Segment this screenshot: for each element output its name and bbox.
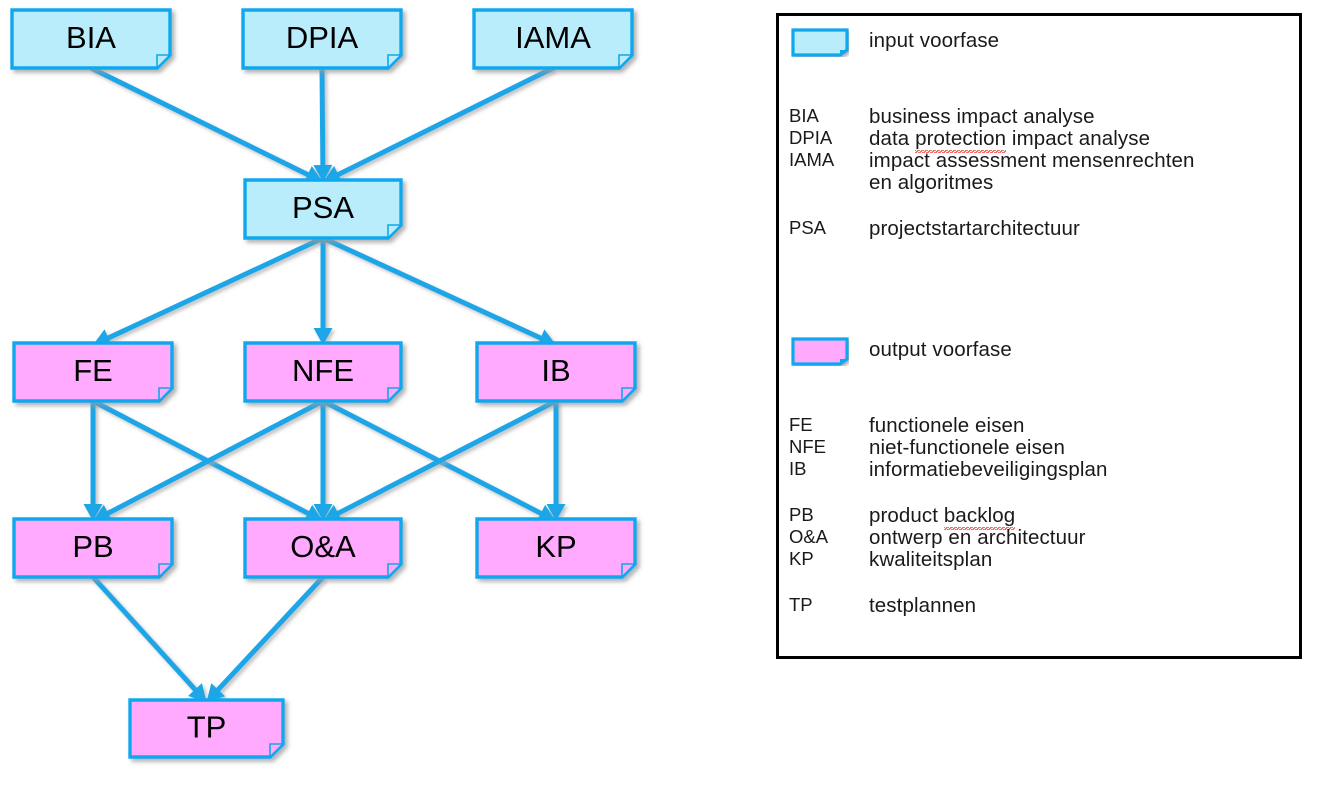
legend-abbr: O&A bbox=[789, 526, 828, 548]
node-IAMA[interactable]: IAMA bbox=[474, 10, 632, 68]
legend-abbr: NFE bbox=[789, 436, 826, 458]
legend-abbr: KP bbox=[789, 548, 814, 570]
legend-row-bia: BIA business impact analyse bbox=[789, 105, 1299, 127]
legend-row-nfe: NFE niet-functionele eisen bbox=[789, 436, 1299, 458]
legend-desc: en algoritmes bbox=[869, 171, 993, 195]
legend-abbr: IAMA bbox=[789, 149, 834, 171]
legend-row-tp: TP testplannen bbox=[789, 594, 1299, 616]
legend-desc: business impact analyse bbox=[869, 105, 1095, 129]
legend-row-kp: KP kwaliteitsplan bbox=[789, 548, 1299, 570]
legend-desc-pre: product bbox=[869, 504, 944, 527]
node-KP[interactable]: KP bbox=[477, 519, 635, 577]
node-FE[interactable]: FE bbox=[14, 343, 172, 401]
legend-desc-pre: data bbox=[869, 127, 915, 150]
flow-diagram: BIADPIAIAMAPSAFENFEIBPBO&AKPTP bbox=[0, 0, 760, 785]
legend-swatch-output bbox=[791, 337, 849, 366]
node-label: O&A bbox=[290, 529, 356, 564]
node-label: TP bbox=[187, 710, 227, 745]
legend-desc: kwaliteitsplan bbox=[869, 548, 992, 572]
legend-abbr: FE bbox=[789, 414, 813, 436]
legend-row-iama: IAMA impact assessment mensenrechten bbox=[789, 149, 1299, 171]
edge-BIA-to-PSA bbox=[91, 68, 323, 183]
legend-abbr: TP bbox=[789, 594, 813, 616]
legend-row-psa: PSA projectstartarchitectuur bbox=[789, 217, 1299, 239]
legend-desc-misspelled: backlog bbox=[944, 504, 1015, 528]
legend-abbr: PSA bbox=[789, 217, 826, 239]
legend-abbr: PB bbox=[789, 504, 814, 526]
node-label: IB bbox=[541, 353, 570, 388]
legend-row-pb: PB product backlog bbox=[789, 504, 1299, 526]
node-label: FE bbox=[73, 353, 113, 388]
node-PB[interactable]: PB bbox=[14, 519, 172, 577]
legend-heading-output: output voorfase bbox=[869, 338, 1012, 362]
node-label: IAMA bbox=[515, 20, 591, 55]
legend-row-oa: O&A ontwerp en architectuur bbox=[789, 526, 1299, 548]
node-label: DPIA bbox=[286, 20, 359, 55]
legend-heading-input: input voorfase bbox=[869, 29, 999, 53]
legend-abbr: IB bbox=[789, 458, 806, 480]
edge-DPIA-to-PSA bbox=[313, 68, 332, 182]
edge-NFE-to-OandA bbox=[314, 401, 333, 521]
legend-desc: projectstartarchitectuur bbox=[869, 217, 1080, 241]
legend-desc: data protection impact analyse bbox=[869, 127, 1150, 151]
legend-abbr: BIA bbox=[789, 105, 819, 127]
edge-FE-to-PB bbox=[84, 401, 103, 521]
legend-row-fe: FE functionele eisen bbox=[789, 414, 1299, 436]
node-label: BIA bbox=[66, 20, 116, 55]
node-label: KP bbox=[535, 529, 576, 564]
node-OandA[interactable]: O&A bbox=[245, 519, 401, 577]
legend-desc: niet-functionele eisen bbox=[869, 436, 1065, 460]
diagram-canvas: BIADPIAIAMAPSAFENFEIBPBO&AKPTP input voo… bbox=[0, 0, 1318, 785]
node-DPIA[interactable]: DPIA bbox=[243, 10, 401, 68]
legend-desc: ontwerp en architectuur bbox=[869, 526, 1086, 550]
legend-desc: functionele eisen bbox=[869, 414, 1025, 438]
edge-IAMA-to-PSA bbox=[323, 68, 553, 183]
node-label: PB bbox=[72, 529, 113, 564]
legend-row-iama-cont: en algoritmes bbox=[789, 171, 1299, 193]
node-label: NFE bbox=[292, 353, 354, 388]
legend-swatch-input bbox=[791, 28, 849, 57]
edge-IB-to-KP bbox=[547, 401, 566, 521]
node-PSA[interactable]: PSA bbox=[245, 180, 401, 238]
edge-PSA-to-NFE bbox=[314, 238, 333, 345]
node-TP[interactable]: TP bbox=[130, 700, 283, 757]
legend-desc: impact assessment mensenrechten bbox=[869, 149, 1195, 173]
node-IB[interactable]: IB bbox=[477, 343, 635, 401]
legend-desc: product backlog bbox=[869, 504, 1015, 528]
legend-desc-post: impact analyse bbox=[1006, 127, 1150, 150]
legend-abbr: DPIA bbox=[789, 127, 832, 149]
legend-panel: input voorfase BIA business impact analy… bbox=[776, 13, 1302, 659]
node-NFE[interactable]: NFE bbox=[245, 343, 401, 401]
edge-OandA-to-TP bbox=[207, 577, 324, 702]
legend-desc-misspelled: protection bbox=[915, 127, 1006, 151]
legend-desc: testplannen bbox=[869, 594, 976, 618]
node-BIA[interactable]: BIA bbox=[12, 10, 170, 68]
edge-PSA-to-FE bbox=[93, 238, 323, 347]
node-label: PSA bbox=[292, 190, 354, 225]
legend-row-ib: IB informatiebeveiligingsplan bbox=[789, 458, 1299, 480]
legend-row-dpia: DPIA data protection impact analyse bbox=[789, 127, 1299, 149]
edge-PB-to-TP bbox=[93, 577, 207, 702]
legend-desc: informatiebeveiligingsplan bbox=[869, 458, 1108, 482]
edge-PSA-to-IB bbox=[323, 238, 556, 347]
